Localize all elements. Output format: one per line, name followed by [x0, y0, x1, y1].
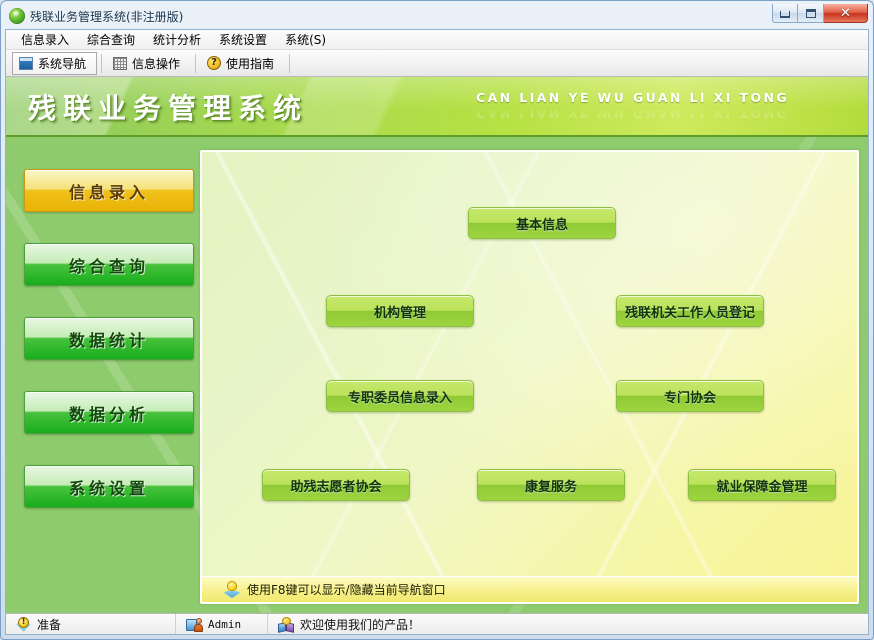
close-icon: ✕ — [840, 7, 851, 20]
help-icon: ? — [207, 56, 221, 70]
page-banner: 残联业务管理系统 CAN LIAN YE WU GUAN LI XI TONG … — [6, 77, 868, 137]
banner-pinyin: CAN LIAN YE WU GUAN LI XI TONG — [476, 90, 856, 105]
toolbar-separator-2 — [195, 54, 196, 73]
status-user-label: Admin — [208, 618, 241, 631]
hint-bar: 使用F8键可以显示/隐藏当前导航窗口 — [202, 576, 857, 602]
navigation-icon — [19, 57, 33, 70]
window-title: 残联业务管理系统(非注册版) — [30, 8, 183, 25]
hint-text: 使用F8键可以显示/隐藏当前导航窗口 — [247, 581, 446, 598]
toolbar: 系统导航 信息操作 ? 使用指南 — [6, 50, 868, 77]
banner-pinyin-reflection: CAN LIAN YE WU GUAN LI XI TONG — [476, 106, 856, 121]
status-message: 欢迎使用我们的产品！ — [268, 614, 868, 634]
tab-info-operation-label: 信息操作 — [132, 55, 180, 72]
minimize-icon — [780, 11, 790, 18]
page-title: 残联业务管理系统 — [28, 87, 308, 127]
status-bar: ! 准备 Admin 欢迎使用我们的产品！ — [6, 613, 868, 634]
status-message-label: 欢迎使用我们的产品！ — [300, 616, 420, 633]
ready-icon: ! — [16, 617, 31, 632]
status-ready-label: 准备 — [37, 616, 61, 633]
sidebar-item-data-analysis[interactable]: 数据分析 — [24, 391, 194, 434]
title-bar: 残联业务管理系统(非注册版) ✕ — [5, 5, 869, 27]
close-button[interactable]: ✕ — [824, 4, 868, 23]
product-icon — [278, 617, 294, 632]
function-button-committee-member-entry[interactable]: 专职委员信息录入 — [326, 380, 474, 412]
menu-item-system[interactable]: 系统(S) — [276, 29, 335, 50]
status-ready: ! 准备 — [6, 614, 176, 634]
client-area: 信息录入 综合查询 统计分析 系统设置 系统(S) 系统导航 信息操作 ? 使用… — [5, 29, 869, 635]
function-button-basic-info[interactable]: 基本信息 — [468, 207, 616, 239]
tab-system-navigation[interactable]: 系统导航 — [12, 52, 97, 75]
menu-item-statistics-analysis[interactable]: 统计分析 — [144, 29, 210, 50]
function-button-volunteer-association[interactable]: 助残志愿者协会 — [262, 469, 410, 501]
tab-user-guide[interactable]: ? 使用指南 — [200, 52, 285, 75]
maximize-icon — [806, 9, 816, 18]
banner-pinyin-block: CAN LIAN YE WU GUAN LI XI TONG CAN LIAN … — [476, 90, 856, 130]
tab-user-guide-label: 使用指南 — [226, 55, 274, 72]
function-button-rehabilitation-service[interactable]: 康复服务 — [477, 469, 625, 501]
app-globe-icon — [9, 8, 25, 24]
navigation-page: 残联业务管理系统 CAN LIAN YE WU GUAN LI XI TONG … — [6, 77, 868, 613]
tab-system-navigation-label: 系统导航 — [38, 55, 86, 72]
page-body: 信息录入 综合查询 数据统计 数据分析 系统设置 基本信息 机构管理 残联机关工… — [6, 137, 868, 613]
menu-item-comprehensive-query[interactable]: 综合查询 — [78, 29, 144, 50]
tab-info-operation[interactable]: 信息操作 — [106, 52, 191, 75]
menu-bar: 信息录入 综合查询 统计分析 系统设置 系统(S) — [6, 30, 868, 50]
menu-item-info-entry[interactable]: 信息录入 — [12, 29, 78, 50]
function-button-organization-management[interactable]: 机构管理 — [326, 295, 474, 327]
content-panel: 基本信息 机构管理 残联机关工作人员登记 专职委员信息录入 专门协会 助残志愿者… — [200, 150, 859, 604]
function-button-staff-registration[interactable]: 残联机关工作人员登记 — [616, 295, 764, 327]
lightbulb-icon — [224, 581, 240, 598]
user-icon — [186, 617, 202, 632]
status-user: Admin — [176, 614, 268, 634]
maximize-button[interactable] — [798, 4, 824, 23]
caption-buttons: ✕ — [772, 4, 868, 23]
toolbar-separator-3 — [289, 54, 290, 73]
sidebar-item-comprehensive-query[interactable]: 综合查询 — [24, 243, 194, 286]
sidebar-nav: 信息录入 综合查询 数据统计 数据分析 系统设置 — [24, 169, 194, 539]
menu-item-system-settings[interactable]: 系统设置 — [210, 29, 276, 50]
sidebar-item-system-settings[interactable]: 系统设置 — [24, 465, 194, 508]
minimize-button[interactable] — [772, 4, 798, 23]
grid-icon — [113, 57, 127, 70]
toolbar-separator-1 — [101, 54, 102, 73]
sidebar-item-info-entry[interactable]: 信息录入 — [24, 169, 194, 212]
application-window: 残联业务管理系统(非注册版) ✕ 信息录入 综合查询 统计分析 系统设置 系统(… — [0, 0, 874, 640]
sidebar-item-data-statistics[interactable]: 数据统计 — [24, 317, 194, 360]
function-button-employment-security-fund[interactable]: 就业保障金管理 — [688, 469, 836, 501]
function-button-special-association[interactable]: 专门协会 — [616, 380, 764, 412]
